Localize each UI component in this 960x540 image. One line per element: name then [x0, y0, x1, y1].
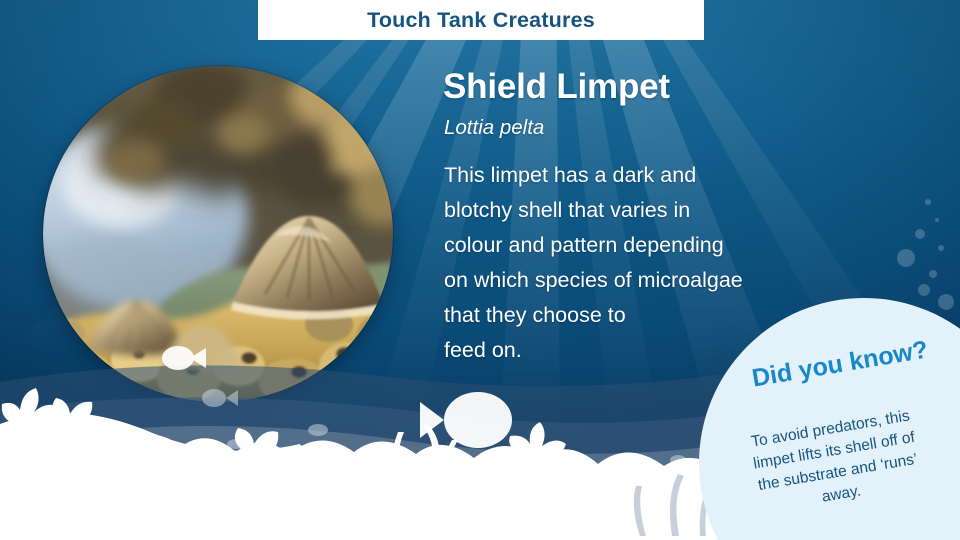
title-bar: Touch Tank Creatures: [258, 0, 704, 40]
species-common-name: Shield Limpet: [443, 68, 670, 105]
did-you-know-text: To avoid predators, this limpet lifts it…: [719, 400, 952, 523]
slide-canvas: Touch Tank Creatures: [0, 0, 960, 540]
species-scientific-name: Lottia pelta: [444, 116, 544, 140]
page-title: Touch Tank Creatures: [367, 8, 595, 33]
